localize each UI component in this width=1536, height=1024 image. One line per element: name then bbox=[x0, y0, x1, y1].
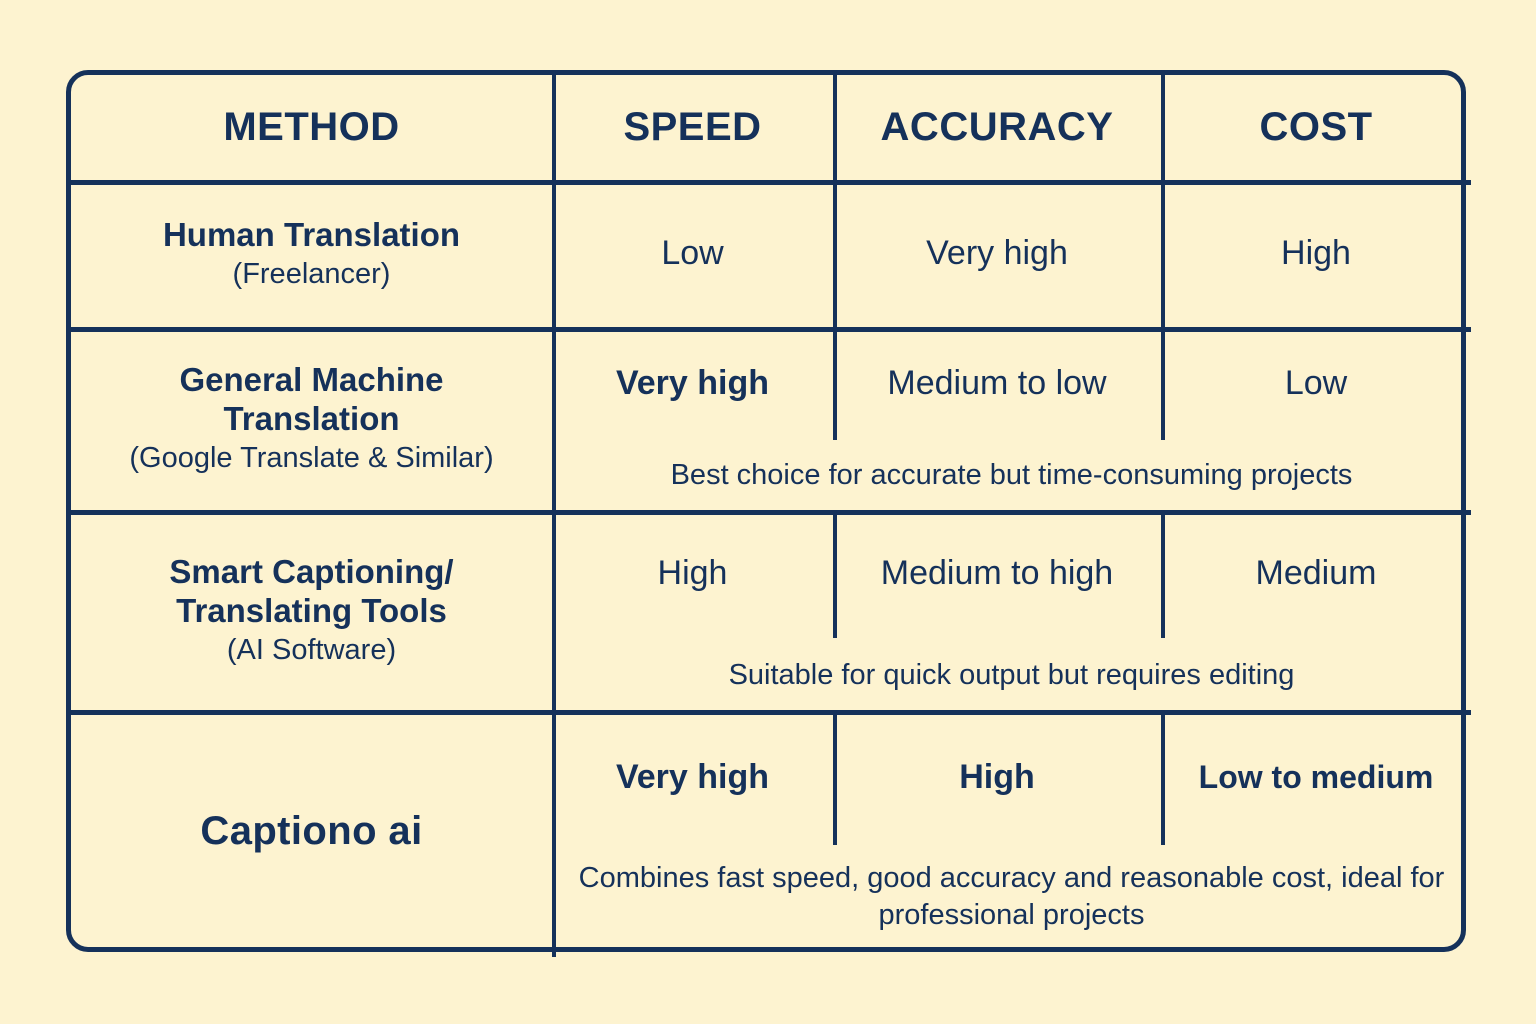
speed-value: Low bbox=[661, 235, 723, 272]
table-row-4-method: Captiono ai bbox=[71, 710, 552, 952]
table-row-2-note: Best choice for accurate but time-consum… bbox=[552, 457, 1471, 494]
accuracy-value: Very high bbox=[926, 235, 1068, 272]
method-subtitle: (Freelancer) bbox=[233, 257, 391, 292]
brand-name: Captiono ai bbox=[200, 809, 422, 854]
header-cell-accuracy: ACCURACY bbox=[833, 75, 1161, 180]
cost-value: Medium bbox=[1256, 555, 1377, 592]
header-label-method: METHOD bbox=[223, 105, 399, 150]
accuracy-value: Medium to high bbox=[881, 555, 1113, 592]
method-name: Smart Captioning/ Translating Tools bbox=[132, 553, 492, 631]
accuracy-value: Medium to low bbox=[887, 365, 1106, 402]
table-row-2-speed: Very high bbox=[552, 327, 833, 440]
speed-value: High bbox=[658, 555, 728, 592]
table-row-1-method: Human Translation (Freelancer) bbox=[71, 180, 552, 327]
table-row-3-cost: Medium bbox=[1161, 510, 1471, 638]
header-cell-cost: COST bbox=[1161, 75, 1471, 180]
speed-value: Very high bbox=[616, 365, 769, 402]
table-row-3-method: Smart Captioning/ Translating Tools (AI … bbox=[71, 510, 552, 710]
header-label-accuracy: ACCURACY bbox=[881, 105, 1114, 150]
table-row-4-cost: Low to medium bbox=[1161, 710, 1471, 845]
header-label-cost: COST bbox=[1259, 105, 1372, 150]
speed-value: Very high bbox=[616, 759, 769, 796]
method-subtitle: (Google Translate & Similar) bbox=[129, 441, 493, 476]
method-name: General Machine Translation bbox=[147, 361, 477, 439]
table-row-3-note: Suitable for quick output but requires e… bbox=[552, 657, 1471, 694]
table-row-2-cost: Low bbox=[1161, 327, 1471, 440]
table-row-2-method: General Machine Translation (Google Tran… bbox=[71, 327, 552, 510]
header-cell-speed: SPEED bbox=[552, 75, 833, 180]
method-name: Human Translation bbox=[163, 216, 460, 255]
table-row-1-cost: High bbox=[1161, 180, 1471, 327]
table-row-1-speed: Low bbox=[552, 180, 833, 327]
header-label-speed: SPEED bbox=[623, 105, 761, 150]
cost-value: Low bbox=[1285, 365, 1347, 402]
table-row-4-accuracy: High bbox=[833, 710, 1161, 845]
method-subtitle: (AI Software) bbox=[227, 633, 396, 668]
accuracy-value: High bbox=[959, 759, 1035, 796]
table-row-4-speed: Very high bbox=[552, 710, 833, 845]
header-cell-method: METHOD bbox=[71, 75, 552, 180]
table-row-3-speed: High bbox=[552, 510, 833, 638]
table-row-2-accuracy: Medium to low bbox=[833, 327, 1161, 440]
cost-value: High bbox=[1281, 235, 1351, 272]
comparison-table-page: METHOD SPEED ACCURACY COST Human Transla… bbox=[0, 0, 1536, 1024]
table-row-4-note: Combines fast speed, good accuracy and r… bbox=[552, 860, 1471, 934]
table-row-1-accuracy: Very high bbox=[833, 180, 1161, 327]
comparison-table: METHOD SPEED ACCURACY COST Human Transla… bbox=[66, 70, 1466, 952]
table-row-3-accuracy: Medium to high bbox=[833, 510, 1161, 638]
cost-value: Low to medium bbox=[1199, 760, 1434, 795]
